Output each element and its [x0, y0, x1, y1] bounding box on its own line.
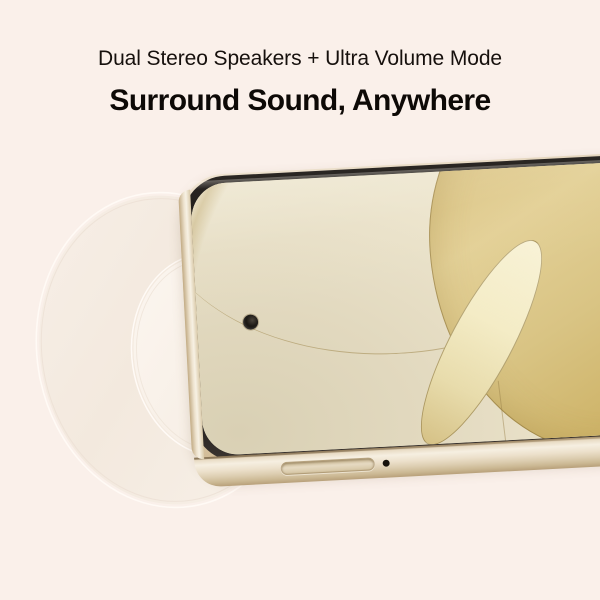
headline-text: Surround Sound, Anywhere [0, 80, 600, 122]
eyebrow-text: Dual Stereo Speakers + Ultra Volume Mode [0, 44, 600, 74]
smartphone-device [177, 152, 600, 506]
phone-screen [190, 161, 600, 456]
promo-banner: Dual Stereo Speakers + Ultra Volume Mode… [0, 0, 600, 600]
text-block: Dual Stereo Speakers + Ultra Volume Mode… [0, 44, 600, 122]
